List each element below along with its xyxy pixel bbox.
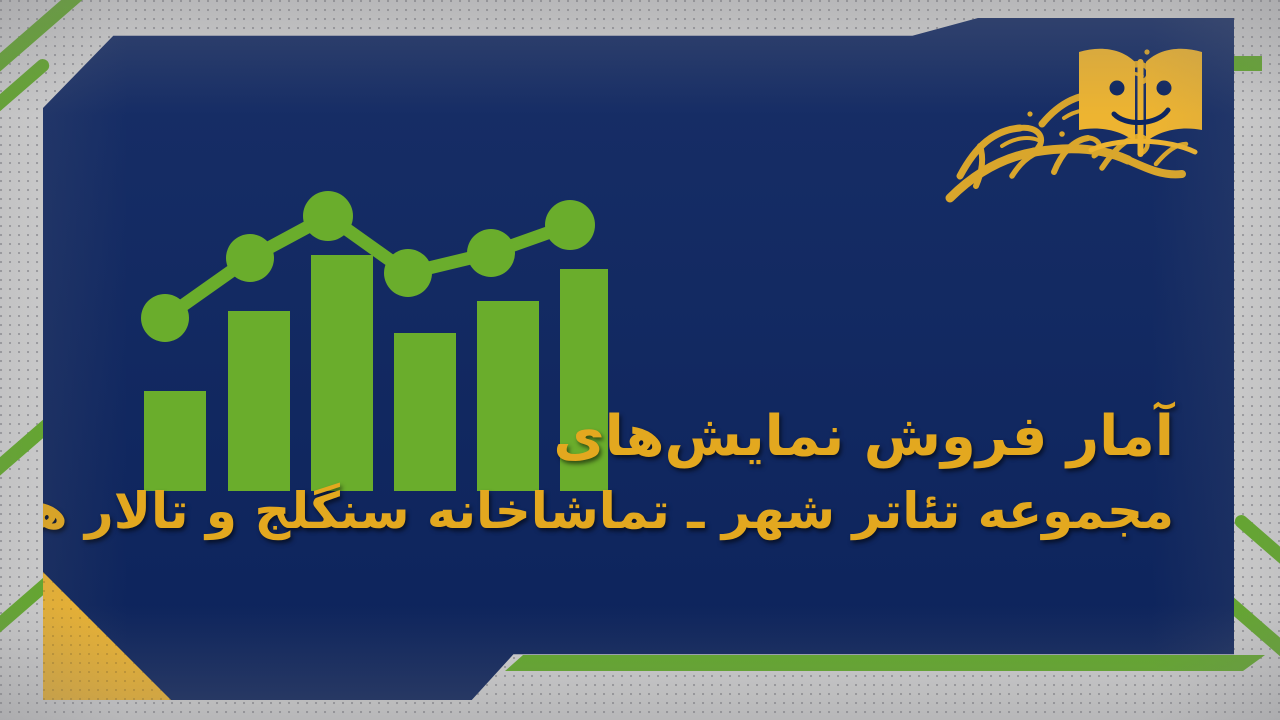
banner-stage: آمار فروش نمایش‌های مجموعه تئاتر شهر ـ ت… — [0, 0, 1280, 720]
chart-marker-6 — [545, 200, 595, 250]
organization-logo: وزارت فرهنگ و ارشاد اسلامی اداره کل هنره… — [942, 26, 1212, 216]
gold-corner-triangle — [43, 572, 171, 700]
logo-calligraphy-top-text: وزارت فرهنگ و ارشاد اسلامی — [1211, 26, 1212, 27]
main-panel: آمار فروش نمایش‌های مجموعه تئاتر شهر ـ ت… — [43, 18, 1234, 700]
chart-marker-2 — [226, 234, 274, 282]
chart-marker-5 — [467, 229, 515, 277]
headline-line-2: مجموعه تئاتر شهر ـ تماشاخانه سنگلج و تال… — [54, 483, 1174, 539]
chart-marker-3 — [303, 191, 353, 241]
chart-marker-1 — [141, 294, 189, 342]
logo-calligraphy-bottom-text: اداره کل هنرهای نمایشی — [1211, 26, 1212, 27]
page-title: آمار فروش نمایش‌های مجموعه تئاتر شهر ـ ت… — [54, 406, 1174, 539]
accent-band-bottom — [505, 655, 1265, 671]
headline-line-1: آمار فروش نمایش‌های — [54, 406, 1174, 469]
open-book-face-icon — [1073, 42, 1208, 167]
chart-marker-4 — [384, 249, 432, 297]
